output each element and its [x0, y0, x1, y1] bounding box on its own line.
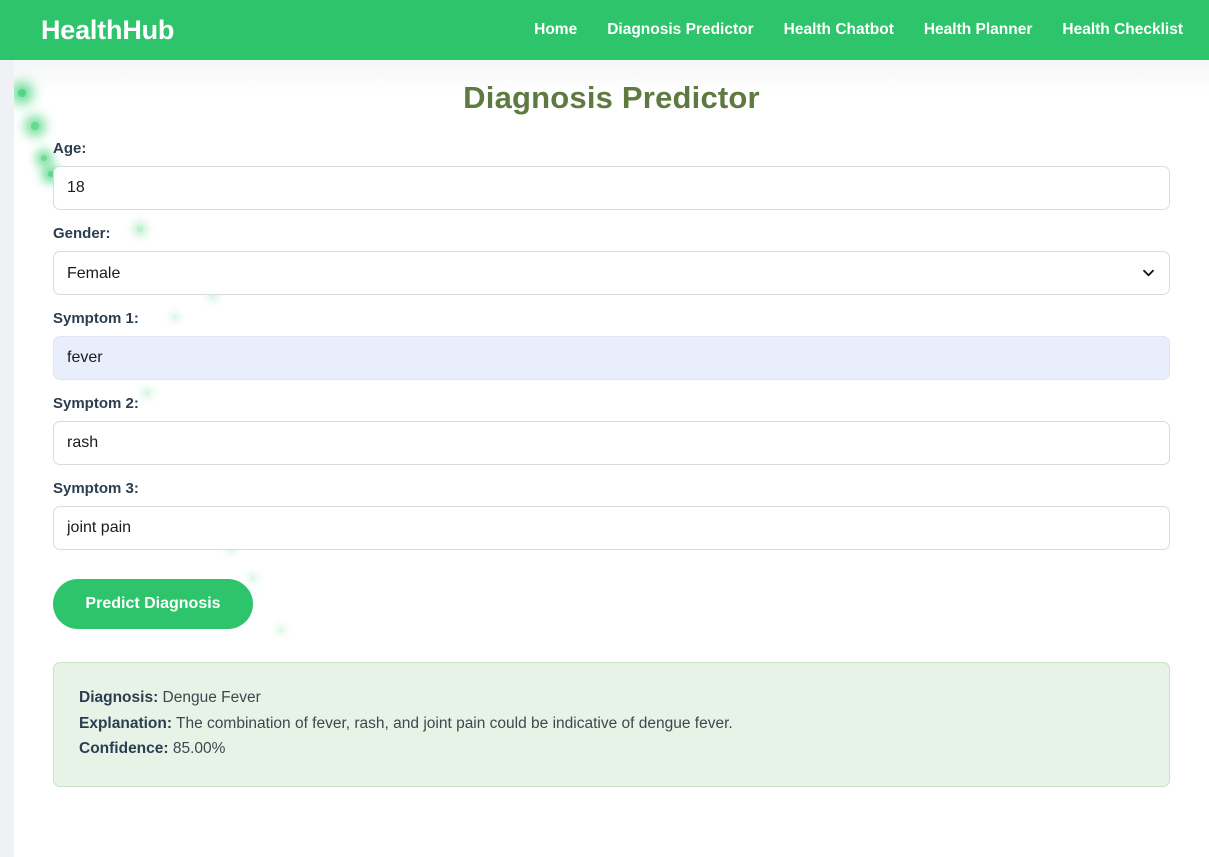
nav-diagnosis-predictor[interactable]: Diagnosis Predictor [607, 21, 753, 39]
symptom1-input[interactable] [53, 336, 1170, 380]
field-group-age: Age: [53, 140, 1170, 210]
result-explanation-value: The combination of fever, rash, and join… [176, 715, 733, 732]
result-explanation-label: Explanation: [79, 715, 172, 732]
predict-diagnosis-button[interactable]: Predict Diagnosis [53, 579, 253, 629]
result-confidence-line: Confidence: 85.00% [79, 736, 1144, 762]
age-label: Age: [53, 140, 1170, 157]
nav-health-checklist[interactable]: Health Checklist [1062, 21, 1183, 39]
nav-health-chatbot[interactable]: Health Chatbot [784, 21, 894, 39]
gender-select-wrap: FemaleMaleOther [53, 251, 1170, 295]
diagnosis-result-box: Diagnosis: Dengue Fever Explanation: The… [53, 662, 1170, 787]
nav-health-planner[interactable]: Health Planner [924, 21, 1033, 39]
result-diagnosis-line: Diagnosis: Dengue Fever [79, 685, 1144, 711]
top-navbar: HealthHub Home Diagnosis Predictor Healt… [0, 0, 1209, 60]
field-group-symptom1: Symptom 1: [53, 310, 1170, 380]
page-title: Diagnosis Predictor [14, 60, 1209, 116]
result-explanation-line: Explanation: The combination of fever, r… [79, 711, 1144, 737]
diagnosis-form: Age: Gender: FemaleMaleOther Symptom 1: … [14, 140, 1209, 787]
symptom3-label: Symptom 3: [53, 480, 1170, 497]
symptom3-input[interactable] [53, 506, 1170, 550]
main-content: Diagnosis Predictor Age: Gender: FemaleM… [14, 60, 1209, 857]
gender-select[interactable]: FemaleMaleOther [53, 251, 1170, 295]
left-gutter [0, 60, 14, 857]
field-group-symptom2: Symptom 2: [53, 395, 1170, 465]
symptom2-input[interactable] [53, 421, 1170, 465]
result-diagnosis-label: Diagnosis: [79, 689, 158, 706]
result-confidence-value: 85.00% [173, 740, 226, 757]
brand-logo[interactable]: HealthHub [41, 17, 174, 44]
result-confidence-label: Confidence: [79, 740, 169, 757]
symptom2-label: Symptom 2: [53, 395, 1170, 412]
field-group-gender: Gender: FemaleMaleOther [53, 225, 1170, 295]
age-input[interactable] [53, 166, 1170, 210]
nav-links: Home Diagnosis Predictor Health Chatbot … [534, 21, 1183, 39]
gender-label: Gender: [53, 225, 1170, 242]
app-root: HealthHub Home Diagnosis Predictor Healt… [0, 0, 1209, 857]
symptom1-label: Symptom 1: [53, 310, 1170, 327]
result-diagnosis-value: Dengue Fever [163, 689, 261, 706]
field-group-symptom3: Symptom 3: [53, 480, 1170, 550]
nav-home[interactable]: Home [534, 21, 577, 39]
